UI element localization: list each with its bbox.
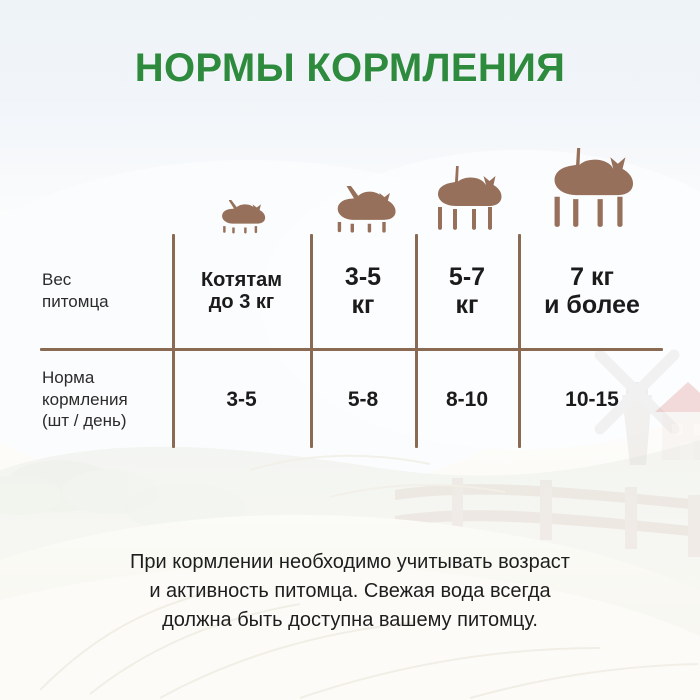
row-label-weight: Вес питомца [40,234,166,348]
feeding-note-line-1: При кормлении необходимо учитывать возра… [70,548,630,577]
weight-header-5-7-line-2: кг [449,291,485,319]
bush-icon [0,460,158,515]
row-label-portion-line-3: (шт / день) [42,410,128,432]
medium-cat-silhouette [420,166,512,234]
weight-header-7-plus-line-1: 7 кг [544,263,640,291]
feeding-guide-poster: НОРМЫ КОРМЛЕНИЯ [0,0,700,700]
weight-header-5-7: 5-7 кг [418,234,516,348]
cat-size-illustrations [172,130,663,234]
small-cat-silhouette [315,186,411,234]
weight-header-kitten-line-1: Котятам [201,269,282,291]
portion-value-5-7: 8-10 [418,351,516,448]
kitten-silhouette [201,200,281,234]
row-label-portion-line-2: кормления [42,389,128,411]
portion-value-7-plus: 10-15 [521,351,663,448]
page-title: НОРМЫ КОРМЛЕНИЯ [0,46,700,91]
weight-header-7-plus: 7 кг и более [521,234,663,348]
wooden-fence-icon [395,478,700,557]
feeding-note-line-2: и активность питомца. Свежая вода всегда [70,577,630,606]
weight-header-3-5-line-1: 3-5 [345,263,381,291]
weight-header-kitten: Котятам до 3 кг [175,234,308,348]
row-label-portion: Норма кормления (шт / день) [40,351,166,448]
feeding-note-line-3: должна быть доступна вашему питомцу. [70,606,630,635]
feeding-note: При кормлении необходимо учитывать возра… [70,548,630,635]
weight-header-3-5: 3-5 кг [313,234,413,348]
feeding-table: Вес питомца Котятам до 3 кг 3-5 кг 5-7 к… [40,234,663,450]
weight-header-7-plus-line-2: и более [544,291,640,319]
portion-value-3-5: 5-8 [313,351,413,448]
portion-value-kitten: 3-5 [175,351,308,448]
weight-header-kitten-line-2: до 3 кг [201,291,282,313]
weight-header-3-5-line-2: кг [345,291,381,319]
bush-icon [125,484,245,532]
large-cat-silhouette [530,148,650,234]
row-label-weight-line-1: Вес [42,269,109,291]
row-label-portion-line-1: Норма [42,367,128,389]
weight-header-5-7-line-1: 5-7 [449,263,485,291]
row-label-weight-line-2: питомца [42,291,109,313]
